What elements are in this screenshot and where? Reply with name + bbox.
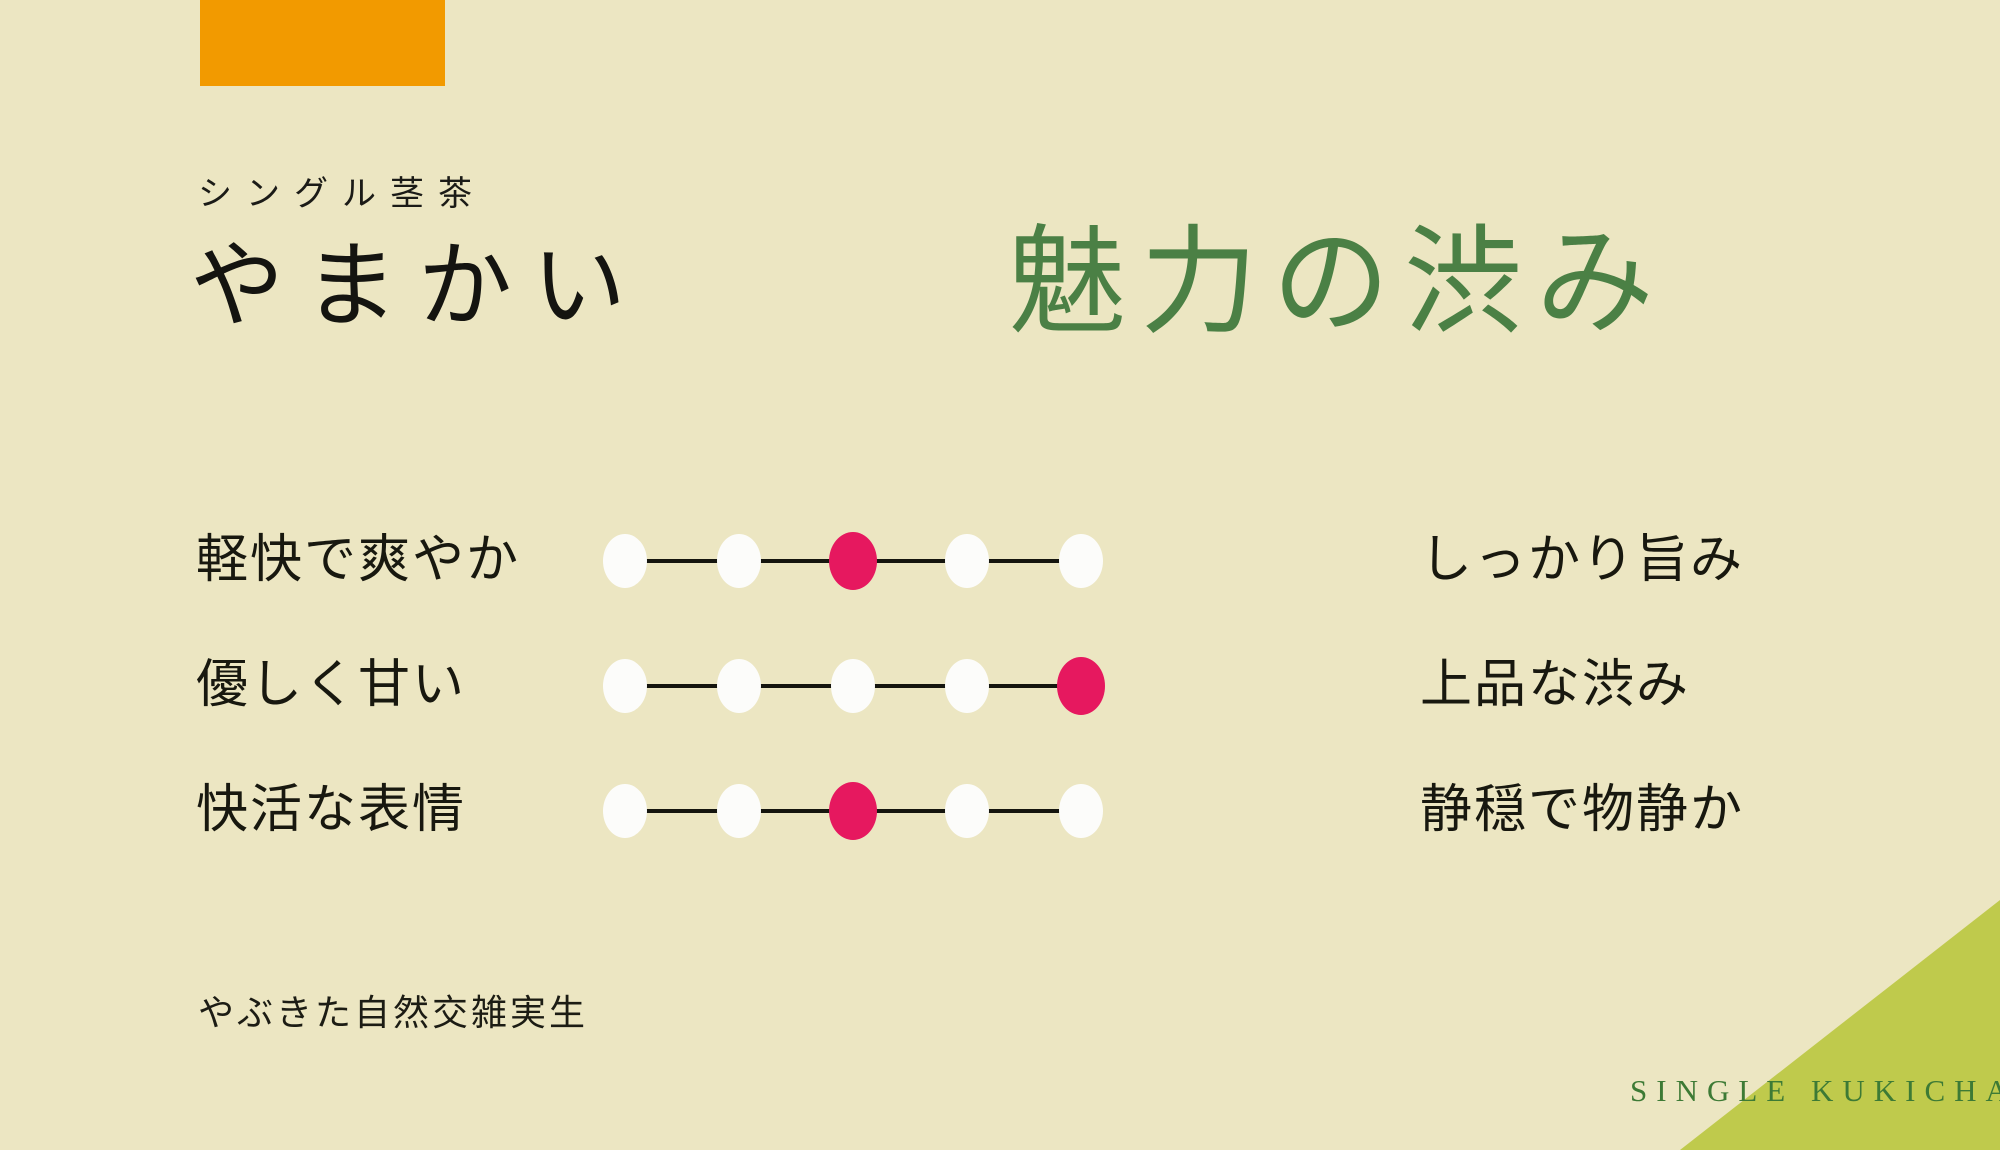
scale-dot-1[interactable] [603,659,647,713]
scale-dot-4[interactable] [945,659,989,713]
orange-accent-block [200,0,445,86]
scale-dot-4[interactable] [945,534,989,588]
flavor-scale-row: 快活な表情 静穏で物静か [0,748,2000,873]
page-title: やまかい [190,238,646,337]
flavor-scale-row: 優しく甘い 上品な渋み [0,623,2000,748]
scale-dot-4[interactable] [945,784,989,838]
scale-track[interactable] [603,658,1103,714]
scale-dot-5[interactable] [1059,534,1103,588]
scale-dot-3[interactable] [829,532,877,590]
scale-right-label: しっかり旨み [1420,535,1744,587]
scale-dot-2[interactable] [717,784,761,838]
scale-dot-2[interactable] [717,534,761,588]
tea-profile-card: シングル茎茶 やまかい 魅力の渋み 軽快で爽やか しっかり旨み 優しく甘い [0,0,2000,1150]
scale-dot-1[interactable] [603,534,647,588]
eyebrow-label: シングル茎茶 [198,178,486,212]
flavor-scale-group: 軽快で爽やか しっかり旨み 優しく甘い 上品な渋み [0,498,2000,873]
scale-dot-1[interactable] [603,784,647,838]
scale-track[interactable] [603,783,1103,839]
scale-dot-3[interactable] [829,782,877,840]
scale-dot-3[interactable] [831,659,875,713]
headline-text: 魅力の渋み [1008,222,1668,346]
cultivar-footnote: やぶきた自然交雑実生 [198,995,588,1031]
flavor-scale-row: 軽快で爽やか しっかり旨み [0,498,2000,623]
scale-left-label: 優しく甘い [196,660,596,712]
brand-mark: SINGLE KUKICHA [1630,1075,2000,1106]
corner-wedge-shape [1680,900,2000,1150]
scale-left-label: 軽快で爽やか [196,535,596,587]
scale-right-label: 静穏で物静か [1420,785,1744,837]
scale-dot-5[interactable] [1057,657,1105,715]
scale-track[interactable] [603,533,1103,589]
scale-left-label: 快活な表情 [196,785,596,837]
scale-dot-2[interactable] [717,659,761,713]
scale-right-label: 上品な渋み [1420,660,1690,712]
scale-dot-5[interactable] [1059,784,1103,838]
